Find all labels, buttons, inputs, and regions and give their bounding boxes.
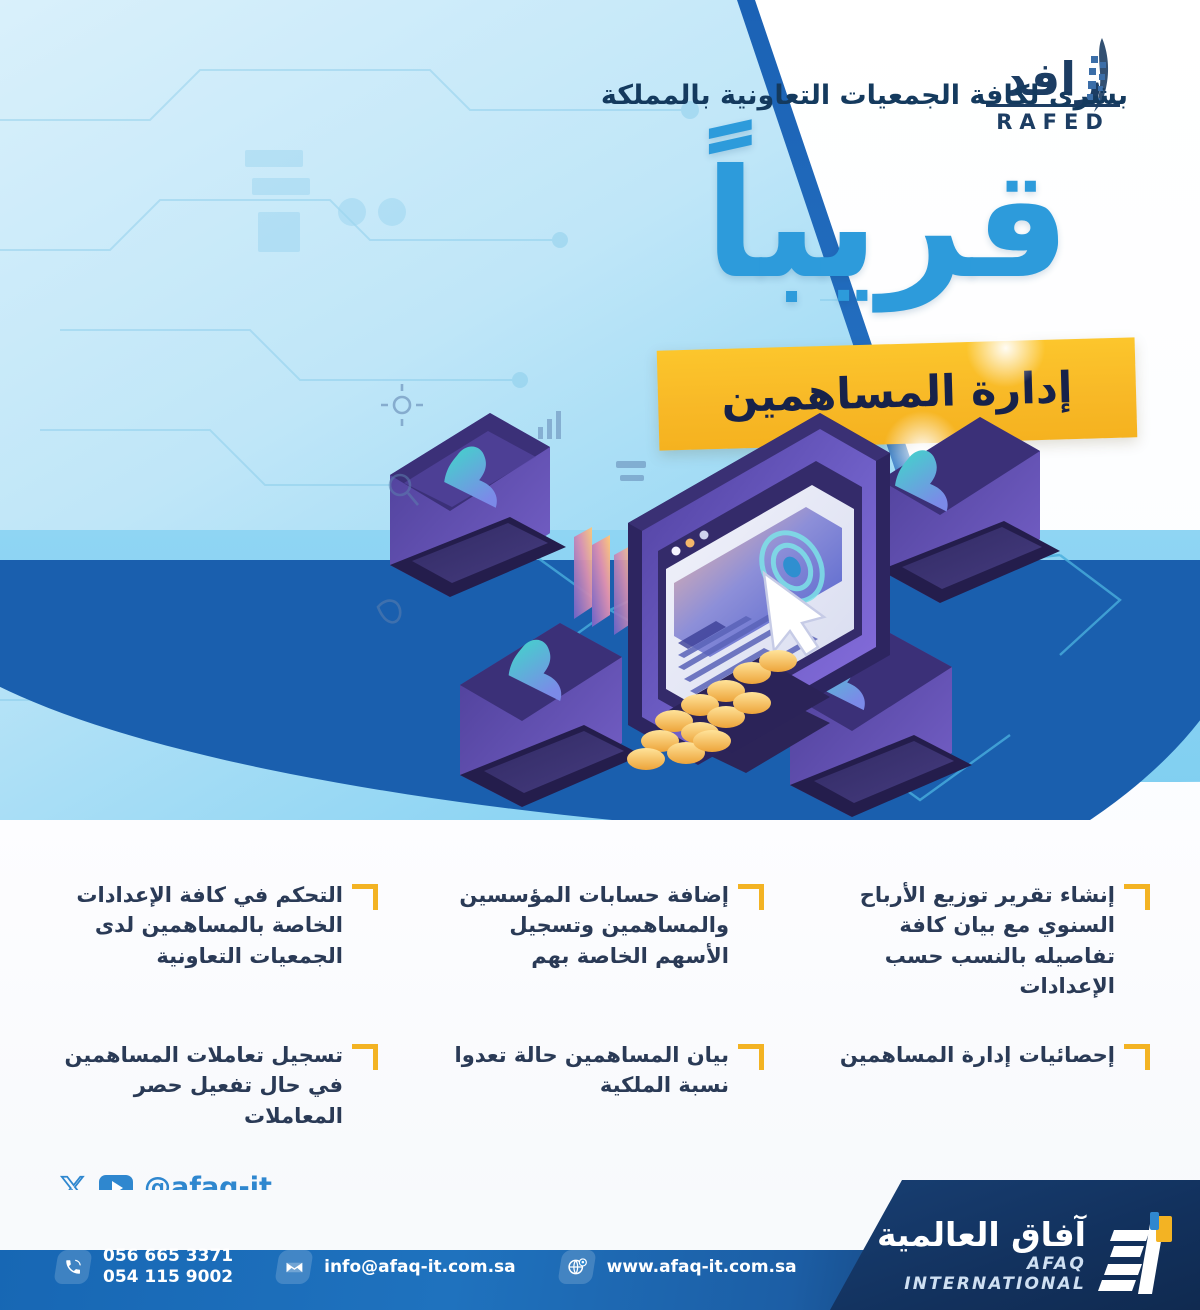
- email-address: info@afaq-it.com.sa: [324, 1257, 516, 1278]
- feature-item: بيان المساهمين حالة تعدوا نسبة الملكية: [446, 1040, 764, 1131]
- phone-icon: [53, 1250, 92, 1284]
- afaq-monogram-icon: [1094, 1210, 1186, 1302]
- feature-item: إضافة حسابات المؤسسين والمساهمين وتسجيل …: [446, 880, 764, 1002]
- contact-phone[interactable]: 056 665 3371 054 115 9002: [56, 1246, 233, 1289]
- contact-website[interactable]: www.afaq-it.com.sa: [560, 1250, 797, 1284]
- globe-pin-icon: [557, 1250, 596, 1284]
- infographic-poster: رافد RAFED بشرى لكافة الجمعيات التعاونية…: [0, 0, 1200, 1310]
- features-grid: التحكم في كافة الإعدادات الخاصة بالمساهم…: [60, 880, 1150, 1131]
- main-title-soon: قريباً: [705, 150, 1070, 300]
- afaq-logo: آفاق العالمية AFAQ INTERNATIONAL: [866, 1208, 1186, 1304]
- website-url: www.afaq-it.com.sa: [607, 1257, 797, 1278]
- feature-item: إنشاء تقرير توزيع الأرباح السنوي مع بيان…: [832, 880, 1150, 1002]
- floating-bars-icon: [538, 411, 646, 481]
- laptop-bottom-left: [460, 623, 642, 807]
- envelope-icon: [274, 1250, 313, 1284]
- afaq-arabic-name: آفاق العالمية: [866, 1218, 1086, 1253]
- corner-bracket-icon: [738, 1044, 764, 1070]
- corner-bracket-icon: [352, 884, 378, 910]
- afaq-latin-name: AFAQ INTERNATIONAL: [866, 1254, 1086, 1294]
- corner-bracket-icon: [1124, 884, 1150, 910]
- feature-text: إنشاء تقرير توزيع الأرباح السنوي مع بيان…: [832, 880, 1115, 1002]
- phone-numbers: 056 665 3371 054 115 9002: [103, 1246, 233, 1289]
- laptop-top-right: [880, 417, 1060, 603]
- afaq-wordmark: آفاق العالمية AFAQ INTERNATIONAL: [866, 1218, 1086, 1295]
- feature-item: تسجيل تعاملات المساهمين في حال تفعيل حصر…: [60, 1040, 378, 1131]
- contact-email[interactable]: info@afaq-it.com.sa: [277, 1250, 516, 1284]
- phone-line-2: 054 115 9002: [103, 1267, 233, 1288]
- feature-text: إضافة حسابات المؤسسين والمساهمين وتسجيل …: [446, 880, 729, 971]
- isometric-illustration: [360, 355, 1150, 875]
- corner-bracket-icon: [738, 884, 764, 910]
- feature-text: تسجيل تعاملات المساهمين في حال تفعيل حصر…: [60, 1040, 343, 1131]
- headline-text: بشرى لكافة الجمعيات التعاونية بالمملكة: [508, 78, 1128, 113]
- phone-line-1: 056 665 3371: [103, 1246, 233, 1267]
- feature-item: التحكم في كافة الإعدادات الخاصة بالمساهم…: [60, 880, 378, 1002]
- corner-bracket-icon: [352, 1044, 378, 1070]
- feature-item: إحصائيات إدارة المساهمين: [832, 1040, 1150, 1131]
- features-row-2: تسجيل تعاملات المساهمين في حال تفعيل حصر…: [60, 1040, 1150, 1131]
- contact-row: 056 665 3371 054 115 9002 info@afaq-it.c…: [56, 1246, 797, 1289]
- feature-text: إحصائيات إدارة المساهمين: [832, 1040, 1115, 1070]
- features-row-1: التحكم في كافة الإعدادات الخاصة بالمساهم…: [60, 880, 1150, 1002]
- feature-text: بيان المساهمين حالة تعدوا نسبة الملكية: [446, 1040, 729, 1101]
- feature-text: التحكم في كافة الإعدادات الخاصة بالمساهم…: [60, 880, 343, 971]
- corner-bracket-icon: [1124, 1044, 1150, 1070]
